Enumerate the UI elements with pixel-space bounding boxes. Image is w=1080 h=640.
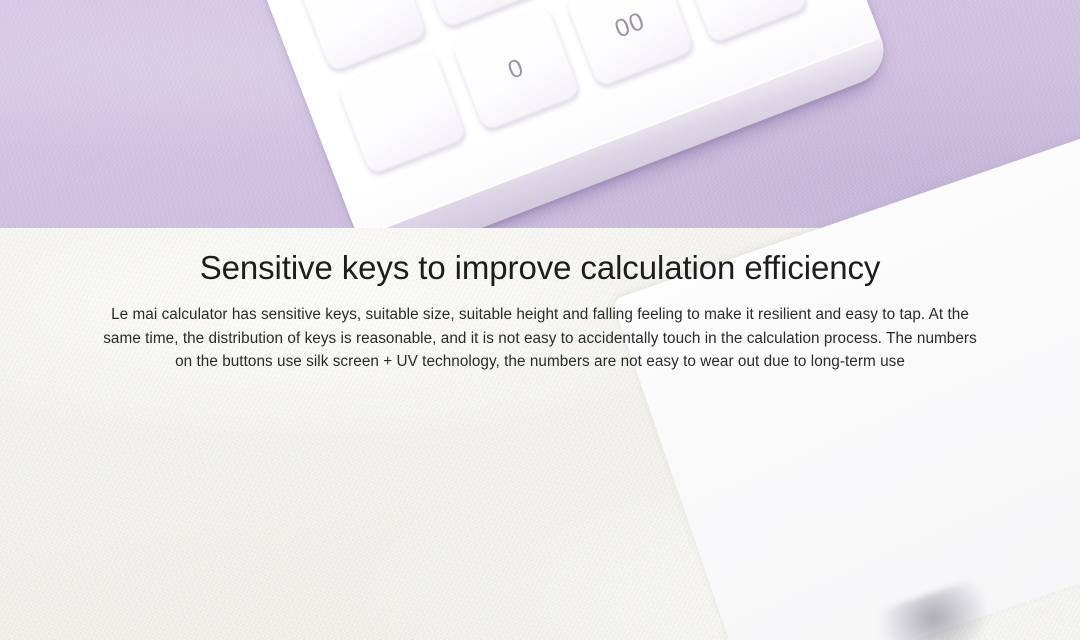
- calculator-body: 0 00: [220, 0, 893, 228]
- page-title: Sensitive keys to improve calculation ef…: [0, 250, 1080, 286]
- calculator-key-label-zero: 0: [505, 54, 528, 83]
- calculator-key-zero: 0: [450, 5, 581, 132]
- calculator-key-double-zero: 00: [564, 0, 695, 89]
- calculator-key-row-upper-left: [336, 49, 467, 176]
- product-feature-page: 0 00: [0, 0, 1080, 640]
- calculator-device: 0 00: [220, 0, 893, 228]
- calculator-key-label-double-zero: 00: [612, 8, 649, 42]
- feature-text-block: Sensitive keys to improve calculation ef…: [0, 250, 1080, 373]
- calculator-key-upper-right: [678, 0, 809, 45]
- feature-description: Le mai calculator has sensitive keys, su…: [102, 303, 978, 373]
